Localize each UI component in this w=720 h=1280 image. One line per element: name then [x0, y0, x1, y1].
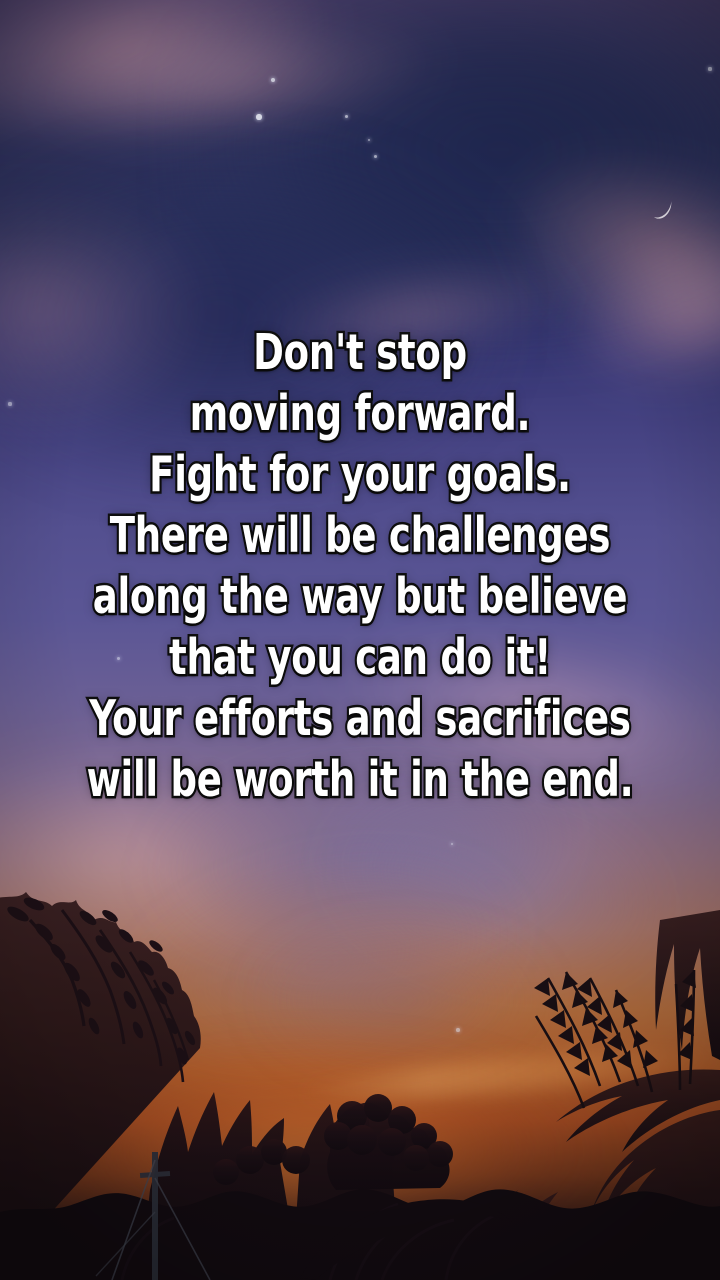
- star-5: [374, 155, 377, 158]
- quote-line-5: along the way but believe: [58, 566, 663, 627]
- quote-line-8: will be worth it in the end.: [58, 749, 663, 810]
- quote-line-4: There will be challenges: [58, 505, 663, 566]
- quote-line-1: Don't stop: [58, 322, 663, 383]
- quote-text-block: Don't stop moving forward. Fight for you…: [0, 322, 720, 810]
- crescent-moon-icon: [650, 198, 676, 224]
- star-1: [271, 78, 275, 82]
- quote-line-3: Fight for your goals.: [58, 444, 663, 505]
- quote-line-6: that you can do it!: [58, 627, 663, 688]
- star-6: [708, 67, 711, 70]
- star-10: [456, 1028, 460, 1032]
- star-3: [345, 115, 348, 118]
- quote-line-7: Your efforts and sacrifices: [58, 688, 663, 749]
- wallpaper-canvas: Don't stop moving forward. Fight for you…: [0, 0, 720, 1280]
- star-2: [256, 114, 261, 119]
- quote-line-2: moving forward.: [58, 383, 663, 444]
